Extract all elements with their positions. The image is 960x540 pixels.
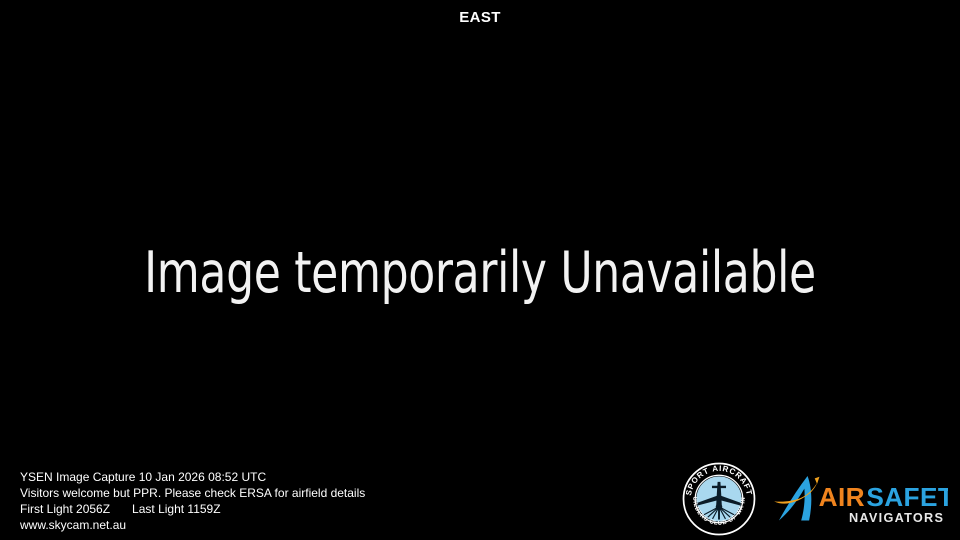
skycam-image-frame: EAST Image temporarily Unavailable YSEN … xyxy=(0,0,960,540)
air-safety-navigators-logo-icon[interactable]: AIR SAFETY NAVIGATORS xyxy=(772,468,948,530)
camera-direction-label: EAST xyxy=(0,9,960,27)
last-light-value: Last Light 1159Z xyxy=(132,502,221,516)
website-url[interactable]: www.skycam.net.au xyxy=(20,517,365,533)
first-light-value: First Light 2056Z xyxy=(20,502,110,516)
logo-a-blue-swoosh xyxy=(779,476,811,521)
airfield-info-block: YSEN Image Capture 10 Jan 2026 08:52 UTC… xyxy=(20,469,365,533)
image-unavailable-message: Image temporarily Unavailable xyxy=(67,240,893,306)
light-times-line: First Light 2056ZLast Light 1159Z xyxy=(20,501,365,517)
sponsor-logo-strip: SPORT AIRCRAFT BUILDERS CLUB OF WA INC A… xyxy=(680,458,948,540)
sport-aircraft-builders-club-badge-icon[interactable]: SPORT AIRCRAFT BUILDERS CLUB OF WA INC xyxy=(680,460,758,538)
logo-word-air: AIR xyxy=(819,482,865,512)
logo-word-safety: SAFETY xyxy=(866,482,948,512)
logo-word-navigators: NAVIGATORS xyxy=(849,510,944,525)
visitor-notice: Visitors welcome but PPR. Please check E… xyxy=(20,485,365,501)
image-capture-timestamp: YSEN Image Capture 10 Jan 2026 08:52 UTC xyxy=(20,469,365,485)
